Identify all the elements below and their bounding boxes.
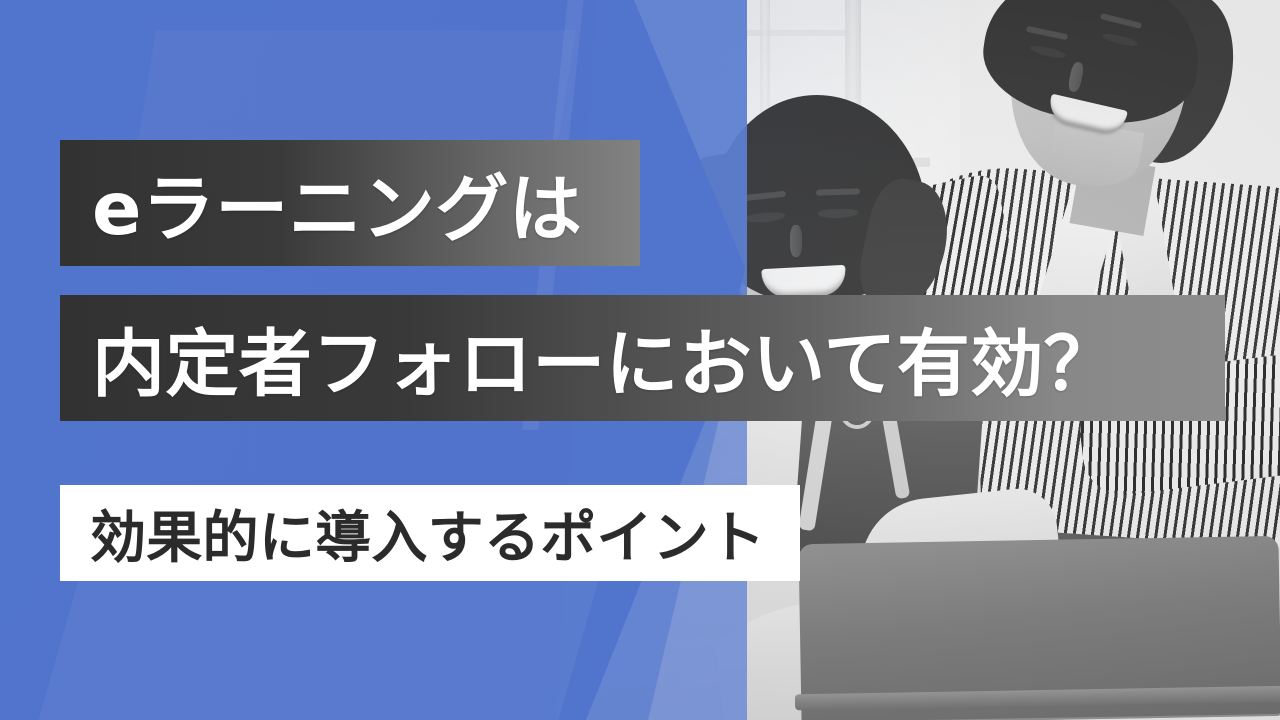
- subheadline-line: 効果的に導入するポイント: [60, 493, 765, 574]
- headline-line-1: eラーニングは: [60, 150, 582, 256]
- headline-line-2: 内定者フォローにおいて有効？: [60, 305, 1117, 411]
- headline-band-2: 内定者フォローにおいて有効？: [60, 295, 1225, 421]
- headline-band-1: eラーニングは: [60, 140, 640, 266]
- subheadline-band: 効果的に導入するポイント: [60, 485, 800, 581]
- blue-texture-highlight-bottom: [36, 560, 605, 720]
- article-hero-banner: eラーニングは 内定者フォローにおいて有効？ 効果的に導入するポイント: [0, 0, 1280, 720]
